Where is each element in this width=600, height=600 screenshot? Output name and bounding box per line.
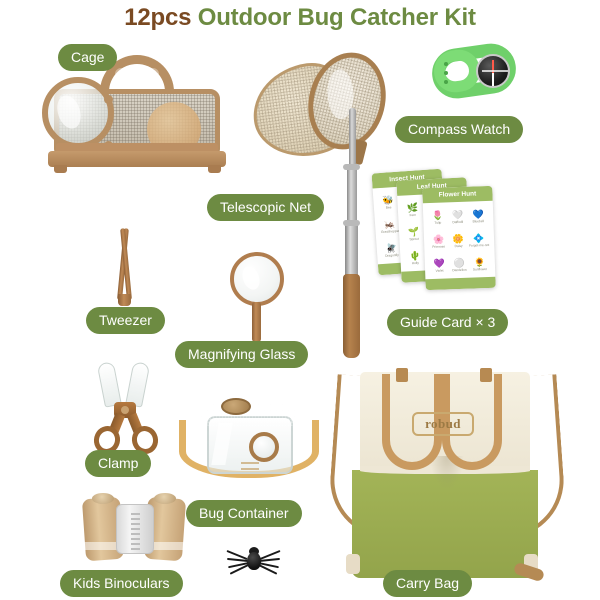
guide-card-cell: 🌿Fern	[402, 199, 422, 223]
flower-icon: 🌷	[432, 211, 444, 221]
guide-card-cell: 💠Forget-me-not	[468, 229, 489, 252]
guide-card-cell-label: Tulip	[434, 221, 441, 225]
guide-card-cell-label: Dragonfly	[385, 253, 399, 258]
spider-body	[247, 552, 261, 570]
leaf-icon: 🌱	[408, 227, 420, 238]
label-tweezer: Tweezer	[86, 307, 165, 334]
guide-card-cell-label: Holly	[412, 260, 419, 264]
binocular-eyepiece-right	[154, 493, 176, 504]
watch-holes	[444, 62, 448, 66]
label-magnifying-glass: Magnifying Glass	[175, 341, 308, 368]
binocular-eyepiece-left	[92, 493, 114, 504]
guide-card-cell: 🌸Primrose	[429, 230, 449, 253]
guide-card-cell: 🌻Sunflower	[469, 252, 490, 275]
cage-latch-icon	[104, 95, 113, 104]
compass-icon	[476, 54, 510, 88]
pole-ring	[343, 220, 360, 226]
flower-icon: 🌸	[433, 235, 445, 245]
guide-card-cell: 🐝Bee	[378, 191, 399, 215]
product-kids-binoculars	[82, 492, 192, 564]
guide-card-cell: 🌱Sprout	[404, 222, 424, 246]
guide-card-cell-label: Grasshopper	[381, 229, 400, 234]
insect-icon: 🐝	[382, 195, 394, 206]
product-infographic: 12pcs Outdoor Bug Catcher Kit Cage Teles…	[0, 0, 600, 600]
product-compass-watch	[432, 42, 516, 102]
clamp-jaw-right	[125, 361, 150, 407]
guide-card-cell-label: Dandelion	[452, 267, 466, 271]
guide-card-cell-label: Primrose	[432, 244, 445, 248]
guide-card-cell: 💙Bluebell	[468, 205, 489, 228]
tweezer-base	[118, 294, 131, 306]
bag-brand-logo: robud	[412, 412, 474, 436]
bug-container-lens	[249, 432, 279, 462]
pole-section-2	[347, 166, 357, 226]
pole-section-3	[345, 222, 358, 278]
product-carry-bag: robud	[338, 358, 556, 583]
guide-card-cell-label: Daisy	[455, 244, 463, 248]
guide-card-cell-label: Bee	[386, 206, 392, 210]
guide-card-footer	[425, 277, 495, 290]
label-kids-binoculars: Kids Binoculars	[60, 570, 183, 597]
guide-card-cell: 🌵Holly	[405, 246, 425, 270]
bag-cord-knot	[513, 562, 545, 583]
label-telescopic-net: Telescopic Net	[207, 194, 324, 221]
bag-tab-right	[480, 368, 492, 382]
guide-card-cell-label: Daffodil	[452, 220, 463, 224]
guide-card-cell-label: Forget-me-not	[469, 243, 489, 248]
flower-icon: 🌻	[474, 257, 486, 267]
label-guide-card: Guide Card × 3	[387, 309, 508, 336]
binocular-bridge	[116, 504, 154, 554]
guide-card-title: Flower Hunt	[422, 186, 492, 203]
cage-foot	[208, 165, 221, 173]
page-title: 12pcs Outdoor Bug Catcher Kit	[0, 4, 600, 32]
guide-card-cell: 💜Violet	[430, 254, 450, 277]
label-cage: Cage	[58, 44, 117, 71]
toy-spider-icon	[228, 540, 280, 578]
guide-card-cell-label: Violet	[436, 268, 444, 272]
flower-icon: 💜	[434, 258, 446, 268]
title-name: Outdoor Bug Catcher Kit	[191, 4, 476, 31]
guide-card-cell: 🦗Grasshopper	[379, 214, 400, 238]
label-clamp: Clamp	[85, 450, 151, 477]
flower-icon: 💠	[473, 233, 485, 243]
bag-cinch-left	[346, 554, 360, 574]
bag-tab-left	[396, 368, 408, 382]
cage-foot	[54, 165, 67, 173]
flower-icon: 🤍	[452, 210, 464, 220]
product-clamp	[88, 362, 164, 454]
flower-icon: 🌼	[453, 234, 465, 244]
magnifier-handle	[252, 302, 261, 342]
guide-card-cell-label: Bluebell	[473, 219, 484, 223]
leaf-icon: 🌵	[409, 250, 421, 261]
title-count: 12pcs	[124, 4, 191, 31]
guide-card-cell: 🤍Daffodil	[448, 206, 468, 229]
product-guide-cards: Insect Hunt 🐝Bee 🦋Butterfly 🐞Ladybug 🦗Gr…	[375, 165, 515, 305]
product-bug-container	[185, 398, 313, 490]
guide-card-cell: 🌷Tulip	[428, 206, 448, 229]
magnifier-lens	[230, 252, 284, 306]
product-telescopic-pole	[340, 108, 366, 358]
pole-section-1	[349, 108, 356, 170]
guide-card-grid: 🌷Tulip 🤍Daffodil 💙Bluebell 🌸Primrose 🌼Da…	[428, 205, 490, 277]
label-carry-bag: Carry Bag	[383, 570, 472, 597]
flower-icon: ⚪	[453, 257, 465, 267]
product-cage	[46, 55, 231, 175]
clamp-jaw-left	[97, 361, 122, 407]
label-bug-container: Bug Container	[186, 500, 302, 527]
label-compass-watch: Compass Watch	[395, 116, 523, 143]
cage-door	[42, 77, 114, 149]
leaf-icon: 🌿	[407, 203, 419, 214]
product-tweezer	[105, 228, 145, 306]
guide-card-flower-hunt: Flower Hunt 🌷Tulip 🤍Daffodil 💙Bluebell 🌸…	[422, 186, 496, 290]
guide-card-cell: ⚪Dandelion	[449, 253, 469, 276]
guide-card-cell-label: Fern	[409, 213, 416, 217]
guide-card-cell-label: Sprout	[409, 237, 419, 241]
guide-card-cell-label: Sunflower	[473, 267, 487, 271]
pole-ring	[343, 164, 360, 170]
guide-card-cell: 🌼Daisy	[449, 229, 469, 252]
pole-grip	[343, 274, 360, 358]
cage-base	[48, 151, 226, 167]
product-magnifying-glass	[228, 252, 290, 344]
flower-icon: 💙	[472, 209, 484, 219]
bug-container-cap	[221, 398, 251, 415]
